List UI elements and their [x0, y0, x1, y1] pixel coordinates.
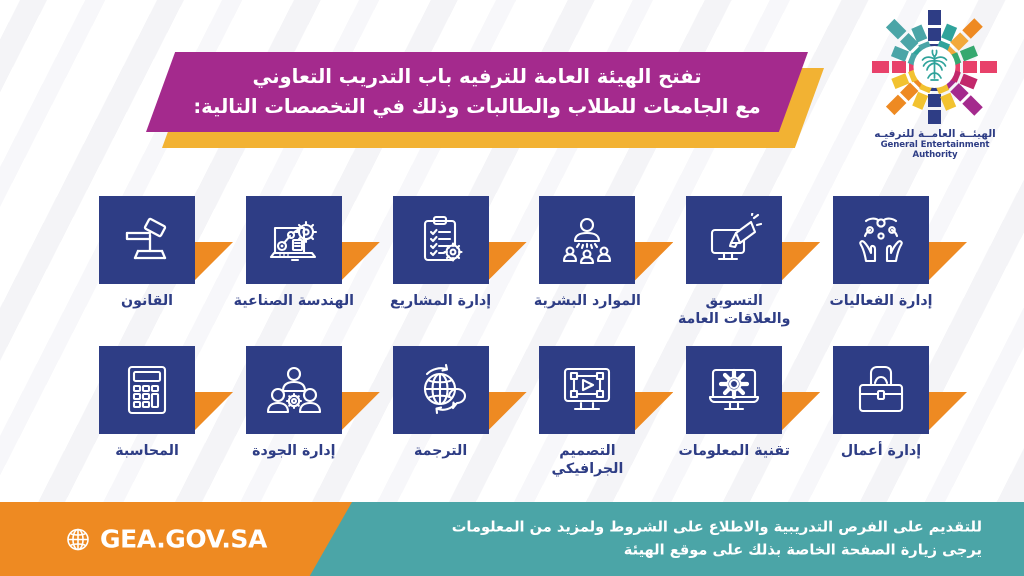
monitor-gear-icon [706, 363, 762, 417]
specialty-card-accounting[interactable]: المحاسبة [86, 346, 208, 480]
card-icon-box [246, 196, 342, 284]
website-link[interactable]: GEA.GOV.SA [66, 525, 267, 554]
people-gear-icon [266, 363, 322, 417]
footer-note: للتقديم على الفرص التدريبية والاطلاع على… [452, 516, 982, 563]
specialty-card-law[interactable]: القانون [86, 196, 208, 330]
card-label: تقنية المعلومات [678, 443, 789, 461]
specialty-card-translation[interactable]: الترجمة [380, 346, 502, 480]
card-orange-tab [191, 242, 233, 284]
gea-starburst-palm-logo-icon [870, 8, 1000, 126]
card-visual [99, 196, 195, 284]
card-label: إدارة الفعاليات [830, 293, 933, 311]
specialty-card-information-technology[interactable]: تقنية المعلومات [673, 346, 795, 480]
specialty-card-graphic-design[interactable]: التصميم الجرافيكي [526, 346, 648, 480]
specialty-card-human-resources[interactable]: الموارد البشرية [526, 196, 648, 330]
card-visual [539, 346, 635, 434]
specialty-card-marketing-pr[interactable]: التسويق والعلاقات العامة [673, 196, 795, 330]
clipboard-checklist-gear-icon [413, 213, 469, 267]
gea-logo: الهيئــة العامــة للترفيـه General Enter… [860, 8, 1010, 160]
card-visual [99, 346, 195, 434]
card-label: القانون [121, 293, 173, 311]
specialty-card-business-administration[interactable]: إدارة أعمال [820, 346, 942, 480]
globe-icon [66, 527, 90, 551]
card-label: التسويق والعلاقات العامة [678, 293, 791, 329]
card-orange-tab [338, 242, 380, 284]
specialty-card-quality-management[interactable]: إدارة الجودة [233, 346, 355, 480]
card-icon-box [99, 196, 195, 284]
specialties-grid: القانون [86, 196, 942, 480]
banner-purple-shape: تفتح الهيئة العامة للترفيه باب التدريب ا… [146, 52, 808, 132]
card-label: التصميم الجرافيكي [552, 443, 624, 479]
card-visual [393, 346, 489, 434]
card-label: إدارة أعمال [841, 443, 921, 461]
card-label: الموارد البشرية [534, 293, 641, 311]
card-visual [686, 196, 782, 284]
card-visual [833, 196, 929, 284]
briefcase-icon [853, 363, 909, 417]
card-icon-box [393, 196, 489, 284]
calculator-icon [119, 363, 175, 417]
card-label: الترجمة [414, 443, 467, 461]
specialty-card-industrial-engineering[interactable]: الهندسة الصناعية [233, 196, 355, 330]
logo-name-arabic: الهيئــة العامــة للترفيـه [860, 128, 1010, 140]
hands-confetti-icon [853, 213, 909, 267]
monitor-megaphone-icon [706, 213, 762, 267]
globe-speech-icon [413, 363, 469, 417]
footer-bar: GEA.GOV.SA للتقديم على الفرص التدريبية و… [0, 502, 1024, 576]
card-icon-box [393, 346, 489, 434]
footer-note-line-2: يرجى زيارة الصفحة الخاصة بذلك على موقع ا… [452, 539, 982, 562]
card-icon-box [539, 346, 635, 434]
card-icon-box [686, 346, 782, 434]
card-icon-box [99, 346, 195, 434]
monitor-play-nodes-icon [559, 363, 615, 417]
specialties-row-1: القانون [86, 196, 942, 330]
headline-line-1: تفتح الهيئة العامة للترفيه باب التدريب ا… [253, 63, 702, 91]
card-label: الهندسة الصناعية [234, 293, 354, 311]
card-visual [539, 196, 635, 284]
robot-arm-laptop-icon [266, 213, 322, 267]
specialties-row-2: المحاسبة [86, 346, 942, 480]
card-icon-box [246, 346, 342, 434]
card-icon-box [833, 346, 929, 434]
footer-note-line-1: للتقديم على الفرص التدريبية والاطلاع على… [452, 516, 982, 539]
card-orange-tab [338, 392, 380, 434]
website-url-text: GEA.GOV.SA [100, 525, 267, 554]
people-hierarchy-icon [559, 213, 615, 267]
card-label: إدارة المشاريع [390, 293, 491, 311]
gavel-icon [119, 213, 175, 267]
card-visual [833, 346, 929, 434]
headline-line-2: مع الجامعات للطلاب والطالبات وذلك في الت… [193, 93, 760, 121]
card-icon-box [686, 196, 782, 284]
specialty-card-event-management[interactable]: إدارة الفعاليات [820, 196, 942, 330]
card-icon-box [539, 196, 635, 284]
card-visual [686, 346, 782, 434]
logo-name-english: General Entertainment Authority [860, 140, 1010, 160]
card-visual [246, 196, 342, 284]
card-orange-tab [191, 392, 233, 434]
card-orange-tab [485, 242, 527, 284]
infographic-poster: تفتح الهيئة العامة للترفيه باب التدريب ا… [0, 0, 1024, 576]
card-visual [246, 346, 342, 434]
card-orange-tab [778, 392, 820, 434]
card-visual [393, 196, 489, 284]
card-label: المحاسبة [115, 443, 179, 461]
specialty-card-project-management[interactable]: إدارة المشاريع [380, 196, 502, 330]
card-orange-tab [631, 242, 673, 284]
card-orange-tab [631, 392, 673, 434]
headline-banner: تفتح الهيئة العامة للترفيه باب التدريب ا… [146, 52, 824, 148]
card-label: إدارة الجودة [252, 443, 335, 461]
card-orange-tab [485, 392, 527, 434]
card-orange-tab [778, 242, 820, 284]
card-icon-box [833, 196, 929, 284]
